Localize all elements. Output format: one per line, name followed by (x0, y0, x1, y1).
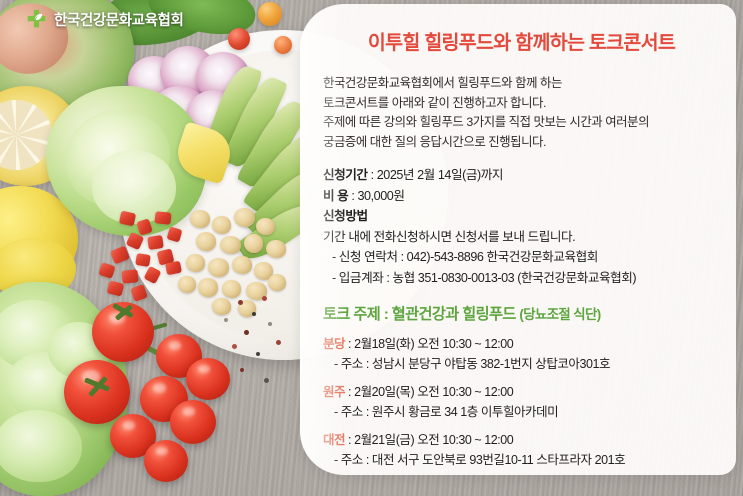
chickpea (244, 234, 263, 253)
peppercorn (240, 368, 244, 372)
chickpea (212, 216, 231, 234)
peppercorn (224, 318, 228, 322)
tomato (186, 358, 230, 400)
intro-line-3: 주제에 따른 강의와 힐링푸드 3가지를 직접 맛보는 시간과 여러분의 (323, 113, 724, 133)
application-method-line: 기간 내에 전화신청하시면 신청서를 보내 드립니다. (323, 227, 724, 248)
chickpea (234, 208, 255, 227)
peppercorn (264, 378, 269, 383)
association-logo: 한국건강문화교육협회 (26, 9, 183, 30)
chickpea (256, 218, 275, 235)
application-period-value: 2025년 2월 14일(금)까지 (377, 168, 503, 182)
peppercorn (256, 352, 260, 356)
diced-tomato (121, 269, 138, 283)
application-info: 신청기간 : 2025년 2월 14일(금)까지 비 용 : 30,000원 신… (323, 165, 724, 288)
content-panel: 이투힐 힐링푸드와 함께하는 토크콘서트 한국건강문화교육협회에서 힐링푸드와 … (300, 4, 736, 475)
talk-topic-main: 토크 주제 : 혈관건강과 힐링푸드 (323, 306, 516, 323)
tomato (144, 440, 188, 482)
schedule-time: : 2월21일(금) 오전 10:30 ~ 12:00 (348, 433, 513, 447)
schedule-list: 분당 : 2월18일(화) 오전 10:30 ~ 12:00 - 주소 : 성남… (323, 334, 724, 470)
schedule-address: - 주소 : 성남시 분당구 야탑동 382-1번지 상탑코아301호 (323, 354, 724, 374)
peppercorn (262, 296, 267, 301)
schedule-item: 대전 : 2월21일(금) 오전 10:30 ~ 12:00 - 주소 : 대전… (323, 430, 724, 470)
account-line: - 입금계좌 : 농협 351-0830-0013-03 (한국건강문화교육협회… (323, 268, 724, 289)
diced-tomato (98, 262, 115, 279)
schedule-city: 원주 (323, 385, 345, 399)
lettuce-leaf (0, 410, 82, 482)
schedule-item: 원주 : 2월20일(목) 오전 10:30 ~ 12:00 - 주소 : 원주… (323, 382, 724, 422)
chickpea (220, 236, 241, 254)
application-period-row: 신청기간 : 2025년 2월 14일(금)까지 (323, 165, 724, 186)
schedule-time: : 2월20일(목) 오전 10:30 ~ 12:00 (348, 385, 513, 399)
chickpea (266, 240, 286, 258)
schedule-address: - 주소 : 원주시 황금로 34 1층 이투힐아카데미 (323, 402, 724, 422)
peppercorn (268, 322, 272, 326)
peppercorn (238, 300, 243, 305)
talk-topic-sub: (당뇨조절 식단) (519, 307, 600, 322)
lemon-segments (0, 100, 52, 170)
chickpea (196, 232, 216, 251)
intro-line-4: 궁금증에 대한 질의 응답시간으로 진행됩니다. (323, 133, 724, 153)
application-period-label: 신청기간 (323, 168, 368, 182)
chickpea (178, 276, 196, 293)
diced-tomato (147, 235, 164, 250)
poster-title: 이투힐 힐링푸드와 함께하는 토크콘서트 (319, 26, 724, 55)
peppercorn (244, 330, 249, 335)
diced-tomato (119, 211, 136, 227)
schedule-time-row: 대전 : 2월21일(금) 오전 10:30 ~ 12:00 (323, 430, 724, 450)
event-poster: 한국건강문화교육협회 이투힐 힐링푸드와 함께하는 토크콘서트 한국건강문화교육… (0, 0, 743, 496)
cherry-tomato (274, 36, 292, 54)
contact-line: - 신청 연락처 : 042)-543-8896 한국건강문화교육협회 (323, 247, 724, 268)
chickpea (198, 278, 218, 297)
tomato (64, 360, 130, 424)
intro-line-1: 한국건강문화교육협회에서 힐링푸드와 함께 하는 (323, 74, 724, 94)
cherry-tomato (258, 2, 282, 26)
fee-row: 비 용 : 30,000원 (323, 186, 724, 207)
schedule-item: 분당 : 2월18일(화) 오전 10:30 ~ 12:00 - 주소 : 성남… (323, 334, 724, 374)
talk-topic-heading: 토크 주제 : 혈관건강과 힐링푸드 (당뇨조절 식단) (323, 302, 724, 324)
schedule-city: 분당 (323, 337, 345, 351)
fee-value: 30,000원 (358, 189, 405, 203)
chickpea (208, 258, 229, 277)
application-method-heading: 신청방법 (323, 206, 724, 227)
diced-tomato (154, 211, 171, 225)
schedule-address: - 주소 : 대전 서구 도안북로 93번길10-11 스타프라자 201호 (323, 450, 724, 470)
schedule-time-row: 원주 : 2월20일(목) 오전 10:30 ~ 12:00 (323, 382, 724, 402)
schedule-city: 대전 (323, 433, 345, 447)
chickpea (186, 254, 205, 272)
diced-tomato (107, 280, 125, 296)
chickpea (222, 280, 241, 298)
green-cross-leaf-icon (26, 9, 47, 30)
peppercorn (232, 344, 237, 349)
intro-line-2: 토크콘서트를 아래와 같이 진행하고자 합니다. (323, 94, 724, 114)
peppercorn (276, 340, 281, 345)
logo-text: 한국건강문화교육협회 (54, 9, 183, 30)
cherry-tomato (228, 28, 250, 50)
tomato (170, 400, 216, 444)
chickpea (212, 298, 231, 315)
chickpea (268, 274, 286, 291)
diced-tomato (135, 253, 151, 267)
schedule-time-row: 분당 : 2월18일(화) 오전 10:30 ~ 12:00 (323, 334, 724, 354)
fee-label: 비 용 (323, 189, 348, 203)
intro-paragraph: 한국건강문화교육협회에서 힐링푸드와 함께 하는 토크콘서트를 아래와 같이 진… (323, 74, 724, 152)
peppercorn (252, 312, 256, 316)
chickpea (232, 256, 252, 274)
schedule-time: : 2월18일(화) 오전 10:30 ~ 12:00 (348, 337, 513, 351)
chickpea (190, 210, 210, 228)
